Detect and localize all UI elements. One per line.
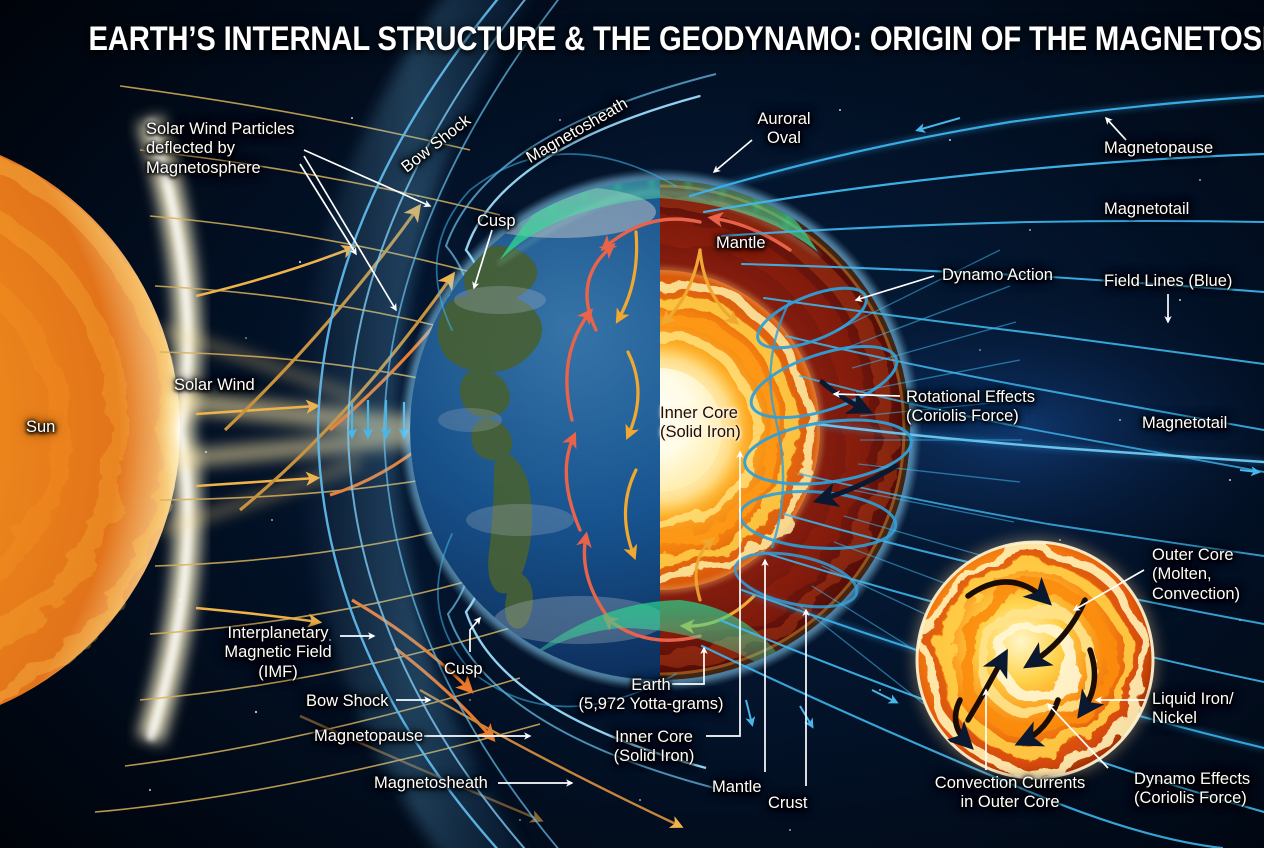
- liquid-iron-line2: Nickel: [1152, 709, 1234, 728]
- label-solar-wind-particles: Solar Wind Particles deflected by Magnet…: [146, 120, 295, 178]
- label-magnetopause-left: Magnetopause: [314, 727, 423, 746]
- solar-wind-particles-line1: Solar Wind Particles: [146, 120, 295, 139]
- label-bow-shock-left: Bow Shock: [306, 692, 389, 711]
- label-field-lines: Field Lines (Blue): [1104, 272, 1232, 291]
- auroral-oval-line2: Oval: [752, 129, 816, 148]
- dynamo-effects-line2: (Coriolis Force): [1134, 789, 1250, 808]
- outer-core-inset-line1: Outer Core: [1152, 546, 1240, 565]
- outer-core-inset-line2: (Molten,: [1152, 565, 1240, 584]
- solar-wind-particles-line2: deflected by: [146, 139, 295, 158]
- convection-currents-line1: Convection Currents: [930, 774, 1090, 793]
- label-cusp-top: Cusp: [477, 212, 516, 231]
- imf-line2: Magnetic Field: [214, 643, 342, 662]
- label-magnetotail-upper: Magnetotail: [1104, 200, 1189, 219]
- label-earth: Earth (5,972 Yotta-grams): [560, 676, 742, 715]
- solar-wind-particles-line3: Magnetosphere: [146, 159, 295, 178]
- imf-line3: (IMF): [214, 663, 342, 682]
- inner-core-leader-line1: Inner Core: [600, 728, 708, 747]
- liquid-iron-line1: Liquid Iron/: [1152, 690, 1234, 709]
- rotational-effects-line2: (Coriolis Force): [906, 407, 1035, 426]
- label-liquid-iron-nickel: Liquid Iron/ Nickel: [1152, 690, 1234, 729]
- label-imf: Interplanetary Magnetic Field (IMF): [214, 624, 342, 682]
- label-outer-core-inset: Outer Core (Molten, Convection): [1152, 546, 1240, 604]
- earth-line1: Earth: [560, 676, 742, 695]
- label-mantle-leader: Mantle: [712, 778, 762, 797]
- label-convection-currents: Convection Currents in Outer Core: [930, 774, 1090, 813]
- label-magnetospause-right: Magnetopause: [1104, 139, 1213, 158]
- label-auroral-oval: Auroral Oval: [752, 110, 816, 149]
- convection-currents-line2: in Outer Core: [930, 793, 1090, 812]
- label-rotational-effects: Rotational Effects (Coriolis Force): [906, 388, 1035, 427]
- rotational-effects-line1: Rotational Effects: [906, 388, 1035, 407]
- label-cusp-bottom: Cusp: [444, 660, 483, 679]
- label-magnetosheath-left: Magnetosheath: [374, 774, 488, 793]
- label-crust-leader: Crust: [768, 794, 807, 813]
- label-dynamo-action: Dynamo Action: [942, 266, 1053, 285]
- field-lines-text: Field Lines: [1104, 272, 1188, 290]
- outer-core-inset-line3: Convection): [1152, 585, 1240, 604]
- label-dynamo-effects: Dynamo Effects (Coriolis Force): [1134, 770, 1250, 809]
- label-mantle-top: Mantle: [716, 234, 766, 253]
- dynamo-effects-line1: Dynamo Effects: [1134, 770, 1250, 789]
- label-sun: Sun: [26, 418, 55, 437]
- earth-line2: (5,972 Yotta-grams): [560, 695, 742, 714]
- outer-core-inset: [913, 538, 1157, 782]
- auroral-oval-line1: Auroral: [752, 110, 816, 129]
- diagram-canvas: EARTH’S INTERNAL STRUCTURE & THE GEODYNA…: [0, 0, 1264, 848]
- imf-line1: Interplanetary: [214, 624, 342, 643]
- inner-core-leader-line2: (Solid Iron): [600, 747, 708, 766]
- label-inner-core-leader: Inner Core (Solid Iron): [600, 728, 708, 767]
- label-solar-wind: Solar Wind: [174, 376, 255, 395]
- field-lines-blue-word: (Blue): [1188, 272, 1232, 290]
- label-magnetotail-lower: Magnetotail: [1142, 414, 1227, 433]
